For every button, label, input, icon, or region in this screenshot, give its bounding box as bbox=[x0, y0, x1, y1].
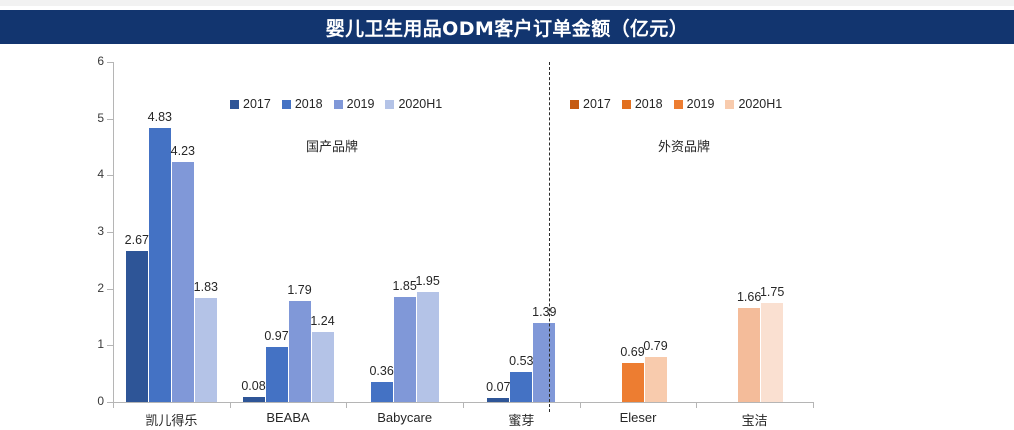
section-heading-domestic: 国产品牌 bbox=[306, 136, 358, 155]
page-title: 婴儿卫生用品ODM客户订单金额（亿元） bbox=[326, 14, 688, 41]
x-axis-label-Babycare: Babycare bbox=[355, 410, 455, 425]
legend-swatch-icon bbox=[725, 100, 734, 109]
x-axis-label-凯儿得乐: 凯儿得乐 bbox=[121, 410, 221, 429]
bar-Babycare-2020H1[interactable] bbox=[417, 292, 439, 403]
x-axis-tick-mark bbox=[580, 402, 581, 408]
bar-凯儿得乐-2020H1[interactable] bbox=[195, 298, 217, 402]
y-axis-tick-label: 3 bbox=[88, 224, 104, 238]
y-axis-tick-label: 0 bbox=[88, 394, 104, 408]
legend-item-foreign-2020H1[interactable]: 2020H1 bbox=[725, 97, 782, 111]
legend-item-domestic-2018[interactable]: 2018 bbox=[282, 97, 323, 111]
legend-swatch-icon bbox=[334, 100, 343, 109]
x-axis-label-BEABA: BEABA bbox=[238, 410, 338, 425]
bar-蜜芽-2017[interactable] bbox=[487, 398, 509, 402]
top-strip bbox=[0, 0, 1014, 6]
legend-label: 2020H1 bbox=[398, 97, 442, 111]
legend-item-domestic-2017[interactable]: 2017 bbox=[230, 97, 271, 111]
x-axis-label-蜜芽: 蜜芽 bbox=[471, 410, 571, 429]
legend-foreign: 2017201820192020H1 bbox=[570, 97, 782, 111]
bar-BEABA-2018[interactable] bbox=[266, 347, 288, 402]
bar-value-label: 4.83 bbox=[143, 110, 177, 124]
bar-value-label: 1.39 bbox=[527, 305, 561, 319]
legend-swatch-icon bbox=[230, 100, 239, 109]
y-axis-tick-label: 5 bbox=[88, 111, 104, 125]
legend-item-foreign-2019[interactable]: 2019 bbox=[674, 97, 715, 111]
bar-Babycare-2019[interactable] bbox=[394, 297, 416, 402]
bar-BEABA-2017[interactable] bbox=[243, 397, 265, 402]
bar-凯儿得乐-2018[interactable] bbox=[149, 128, 171, 402]
x-axis-tick-mark bbox=[696, 402, 697, 408]
bar-蜜芽-2018[interactable] bbox=[510, 372, 532, 402]
chart-canvas: 0123456 2.674.834.231.830.080.971.791.24… bbox=[0, 44, 1014, 430]
legend-swatch-icon bbox=[282, 100, 291, 109]
legend-label: 2018 bbox=[635, 97, 663, 111]
legend-label: 2017 bbox=[583, 97, 611, 111]
y-axis-tick-label: 4 bbox=[88, 167, 104, 181]
bar-BEABA-2020H1[interactable] bbox=[312, 332, 334, 402]
legend-label: 2019 bbox=[687, 97, 715, 111]
bar-value-label: 4.23 bbox=[166, 144, 200, 158]
bar-Babycare-2018[interactable] bbox=[371, 382, 393, 402]
bar-value-label: 1.24 bbox=[306, 314, 340, 328]
x-axis-label-宝洁: 宝洁 bbox=[705, 410, 805, 429]
legend-label: 2020H1 bbox=[738, 97, 782, 111]
bar-value-label: 1.95 bbox=[411, 274, 445, 288]
chart-title-bar: 婴儿卫生用品ODM客户订单金额（亿元） bbox=[0, 10, 1014, 44]
legend-swatch-icon bbox=[674, 100, 683, 109]
legend-swatch-icon bbox=[385, 100, 394, 109]
legend-label: 2017 bbox=[243, 97, 271, 111]
y-axis-tick-label: 2 bbox=[88, 281, 104, 295]
bar-Eleser-2020H1[interactable] bbox=[645, 357, 667, 402]
bar-宝洁-2020H1[interactable] bbox=[761, 303, 783, 402]
bar-凯儿得乐-2017[interactable] bbox=[126, 251, 148, 402]
legend-swatch-icon bbox=[622, 100, 631, 109]
section-heading-foreign: 外资品牌 bbox=[658, 136, 710, 155]
legend-item-domestic-2019[interactable]: 2019 bbox=[334, 97, 375, 111]
legend-swatch-icon bbox=[570, 100, 579, 109]
x-axis-tick-mark bbox=[463, 402, 464, 408]
legend-domestic: 2017201820192020H1 bbox=[230, 97, 442, 111]
bar-宝洁-2019[interactable] bbox=[738, 308, 760, 402]
legend-item-domestic-2020H1[interactable]: 2020H1 bbox=[385, 97, 442, 111]
bar-value-label: 1.79 bbox=[283, 283, 317, 297]
legend-label: 2018 bbox=[295, 97, 323, 111]
bar-value-label: 0.79 bbox=[639, 339, 673, 353]
x-axis-tick-mark bbox=[113, 402, 114, 408]
legend-item-foreign-2018[interactable]: 2018 bbox=[622, 97, 663, 111]
legend-item-foreign-2017[interactable]: 2017 bbox=[570, 97, 611, 111]
x-axis-tick-mark bbox=[230, 402, 231, 408]
bar-value-label: 1.83 bbox=[189, 280, 223, 294]
y-axis-tick-label: 1 bbox=[88, 337, 104, 351]
x-axis-tick-mark bbox=[346, 402, 347, 408]
section-divider bbox=[549, 62, 550, 412]
x-axis-tick-mark bbox=[813, 402, 814, 408]
bar-蜜芽-2019[interactable] bbox=[533, 323, 555, 402]
bar-Eleser-2019[interactable] bbox=[622, 363, 644, 402]
bar-value-label: 1.75 bbox=[755, 285, 789, 299]
legend-label: 2019 bbox=[347, 97, 375, 111]
x-axis-label-Eleser: Eleser bbox=[588, 410, 688, 425]
plot-region: 2.674.834.231.830.080.971.791.240.361.85… bbox=[113, 62, 813, 402]
y-axis-tick-label: 6 bbox=[88, 54, 104, 68]
